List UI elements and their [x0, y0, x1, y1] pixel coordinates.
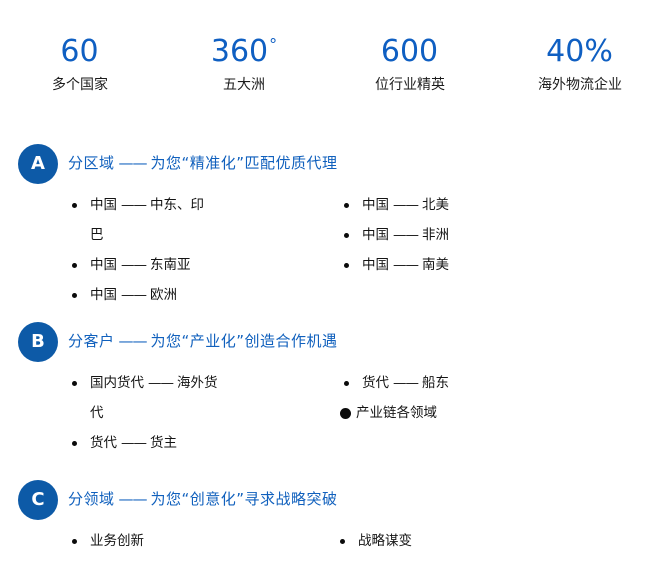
- list-item: 货代——船东: [340, 368, 630, 398]
- list-item: 中国——欧洲: [68, 280, 338, 310]
- bullet-dot-icon: [72, 203, 77, 208]
- stat-value: 360°: [164, 28, 324, 69]
- bullet-dot-icon: [344, 263, 349, 268]
- stat-suffix: °: [269, 35, 277, 54]
- section-b: B 分客户——为您“产业化”创造合作机遇 国内货代——海外货 代 货代——货主 …: [0, 320, 662, 468]
- section-columns: 中国——中东、印 巴 中国——东南亚 中国——欧洲 中国——北美 中国——非洲 …: [0, 190, 662, 310]
- dash-separator: ——: [393, 190, 418, 220]
- section-c: C 分领域——为您“创意化”寻求战略突破 业务创新 战略谋变: [0, 478, 662, 566]
- stat-value: 60: [0, 28, 160, 69]
- column-right: 战略谋变: [336, 526, 626, 556]
- list-item: 中国——北美: [340, 190, 630, 220]
- section-title: 分客户——为您“产业化”创造合作机遇: [68, 330, 338, 352]
- dash-separator: ——: [121, 280, 146, 310]
- stat-label: 位行业精英: [330, 76, 490, 94]
- stat-value: 600: [330, 28, 490, 69]
- stat-item: 40% 海外物流企业: [500, 28, 660, 94]
- stat-item: 600 位行业精英: [330, 28, 490, 94]
- bullet-dot-icon: [72, 381, 77, 386]
- title-separator: ——: [119, 154, 147, 172]
- bullet-dot-icon: [72, 293, 77, 298]
- dash-separator: ——: [121, 428, 146, 458]
- section-badge-b: B: [18, 322, 58, 362]
- list-item: 中国——中东、印: [68, 190, 338, 220]
- list-item: 中国——南美: [340, 250, 630, 280]
- list-item: 中国——东南亚: [68, 250, 338, 280]
- section-columns: 国内货代——海外货 代 货代——货主 货代——船东 产业链各领域: [0, 368, 662, 468]
- section-badge-c: C: [18, 480, 58, 520]
- dash-separator: ——: [121, 190, 146, 220]
- section-header: A 分区域——为您“精准化”匹配优质代理: [0, 142, 662, 186]
- bullet-dot-icon: [340, 539, 345, 544]
- section-a: A 分区域——为您“精准化”匹配优质代理 中国——中东、印 巴 中国——东南亚 …: [0, 142, 662, 310]
- list-item: 国内货代——海外货: [68, 368, 338, 398]
- bullet-dot-icon: [72, 441, 77, 446]
- section-title: 分区域——为您“精准化”匹配优质代理: [68, 152, 338, 174]
- bullet-dot-icon: [344, 203, 349, 208]
- list-item: 业务创新: [68, 526, 338, 556]
- dash-separator: ——: [393, 250, 418, 280]
- dash-separator: ——: [121, 250, 146, 280]
- bullet-dot-icon: [344, 381, 349, 386]
- list-item: 产业链各领域: [340, 398, 630, 428]
- dash-separator: ——: [148, 368, 173, 398]
- stat-item: 60 多个国家: [0, 28, 160, 94]
- column-left: 国内货代——海外货 代 货代——货主: [68, 368, 338, 458]
- section-header: B 分客户——为您“产业化”创造合作机遇: [0, 320, 662, 364]
- bullet-dot-icon: [72, 263, 77, 268]
- section-columns: 业务创新 战略谋变: [0, 526, 662, 566]
- stats-strip: 60 多个国家 360° 五大洲 600 位行业精英 40% 海外物流企业: [0, 28, 662, 94]
- title-separator: ——: [119, 490, 147, 508]
- dash-separator: ——: [393, 368, 418, 398]
- bullet-dot-icon: [72, 539, 77, 544]
- title-separator: ——: [119, 332, 147, 350]
- column-right: 货代——船东 产业链各领域: [340, 368, 630, 428]
- section-badge-a: A: [18, 144, 58, 184]
- list-item: 货代——货主: [68, 428, 338, 458]
- dash-separator: ——: [393, 220, 418, 250]
- section-header: C 分领域——为您“创意化”寻求战略突破: [0, 478, 662, 522]
- bullet-dot-icon: [344, 233, 349, 238]
- list-item-wrap: 代: [68, 398, 338, 428]
- list-item-wrap: 巴: [68, 220, 338, 250]
- column-right: 中国——北美 中国——非洲 中国——南美: [340, 190, 630, 280]
- stat-label: 五大洲: [164, 76, 324, 94]
- list-item: 战略谋变: [336, 526, 626, 556]
- list-item: 中国——非洲: [340, 220, 630, 250]
- column-left: 中国——中东、印 巴 中国——东南亚 中国——欧洲: [68, 190, 338, 310]
- stat-label: 多个国家: [0, 76, 160, 94]
- stat-label: 海外物流企业: [500, 76, 660, 94]
- column-left: 业务创新: [68, 526, 338, 556]
- stat-value: 40%: [500, 28, 660, 69]
- bullet-dot-large-icon: [340, 408, 351, 419]
- section-title: 分领域——为您“创意化”寻求战略突破: [68, 488, 338, 510]
- stat-item: 360° 五大洲: [164, 28, 324, 94]
